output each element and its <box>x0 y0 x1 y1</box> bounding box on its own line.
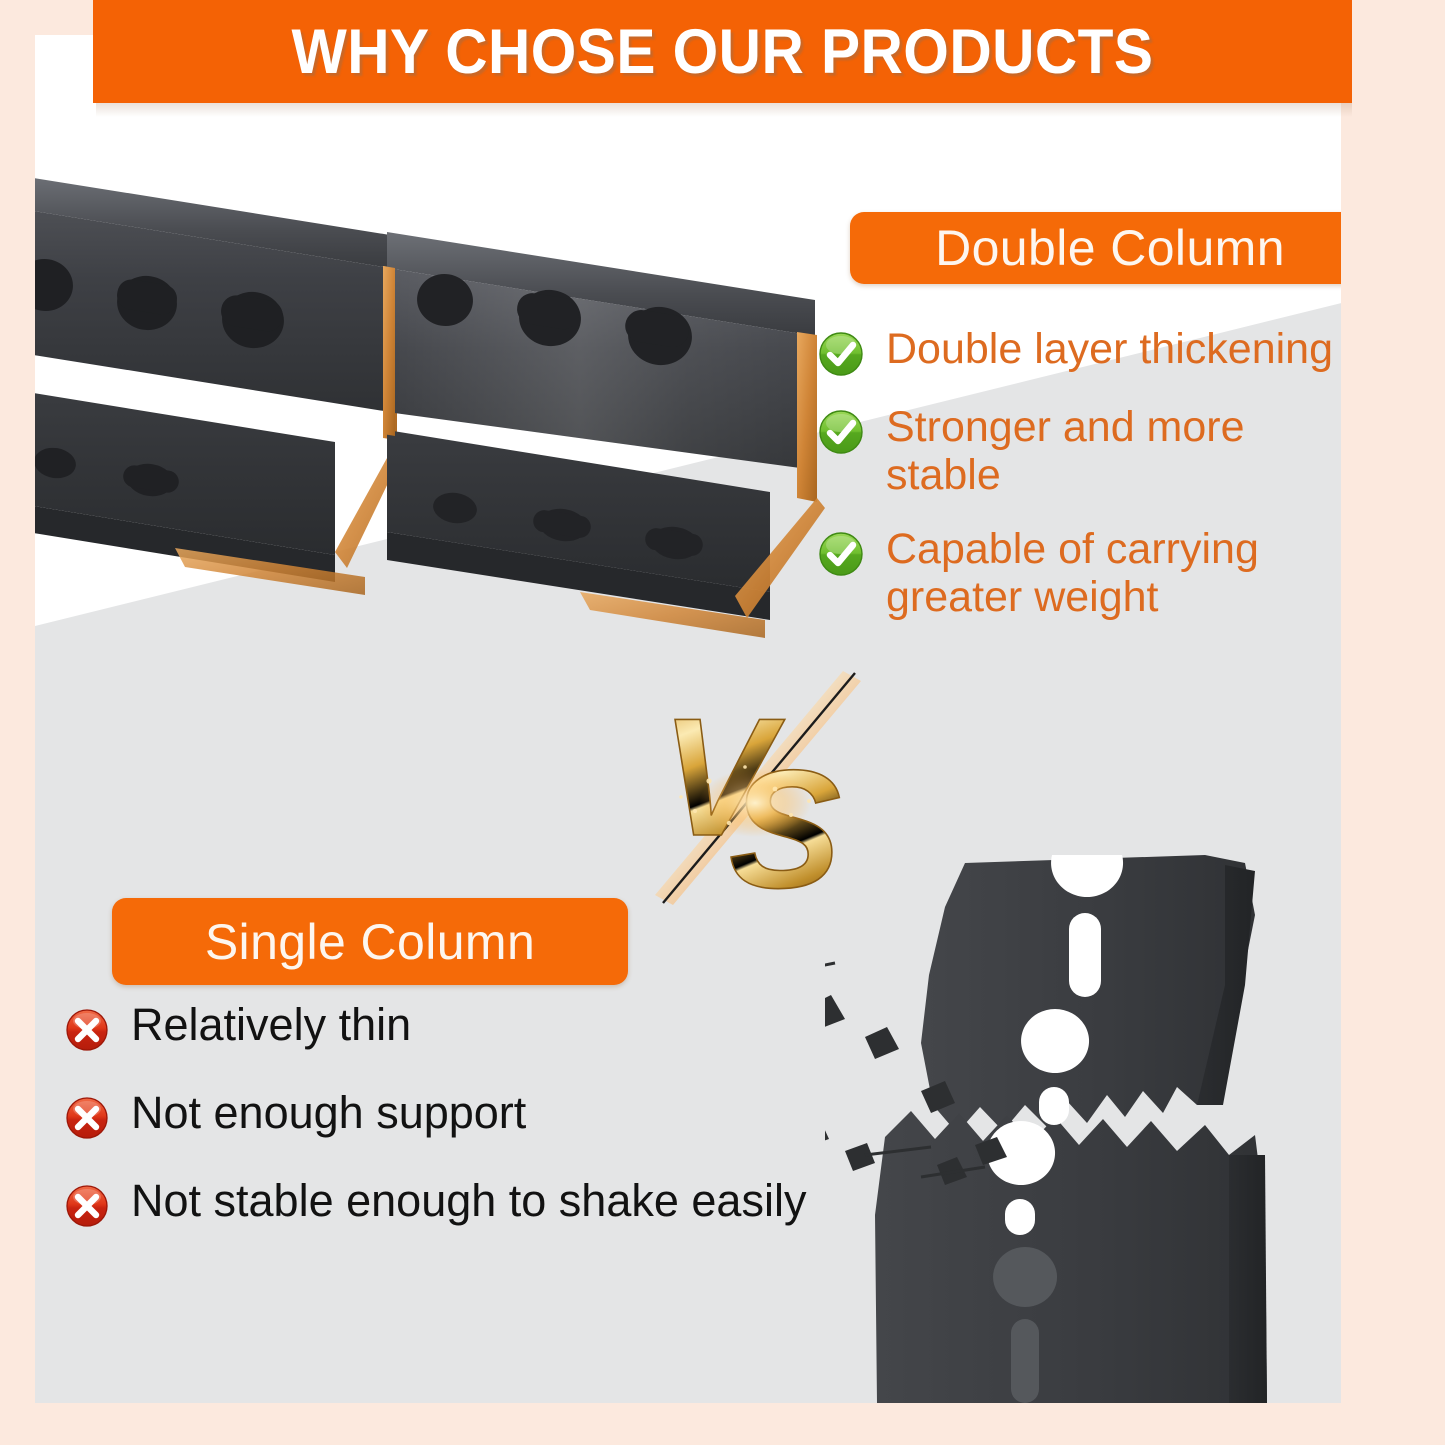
double-column-photo <box>35 140 825 645</box>
pros-item-label: Stronger and more stable <box>886 403 1341 499</box>
list-item: Relatively thin <box>65 1000 855 1052</box>
page-title: WHY CHOSE OUR PRODUCTS <box>291 16 1153 88</box>
single-column-badge: Single Column <box>112 898 628 985</box>
red-cross-icon <box>65 1184 109 1228</box>
green-check-icon <box>818 531 864 577</box>
green-check-icon <box>818 331 864 377</box>
pros-item-label: Double layer thickening <box>886 325 1333 373</box>
header-banner: WHY CHOSE OUR PRODUCTS <box>93 0 1352 103</box>
red-cross-icon <box>65 1096 109 1140</box>
versus-badge: V S <box>633 663 903 913</box>
red-cross-icon <box>65 1008 109 1052</box>
cons-item-label: Relatively thin <box>131 1000 411 1050</box>
cons-list: Relatively thin Not enough support <box>65 1000 855 1264</box>
product-comparison-poster: V S Double Column <box>0 0 1445 1445</box>
list-item: Not stable enough to shake easily <box>65 1176 855 1228</box>
list-item: Double layer thickening <box>818 325 1341 377</box>
list-item: Capable of carrying greater weight <box>818 525 1341 621</box>
pros-item-label: Capable of carrying greater weight <box>886 525 1286 621</box>
double-column-badge: Double Column <box>850 212 1341 284</box>
single-column-badge-label: Single Column <box>205 913 535 971</box>
content-panel: V S Double Column <box>35 35 1341 1403</box>
green-check-icon <box>818 409 864 455</box>
header-banner-shadow <box>96 103 1352 117</box>
pros-list: Double layer thickening Stronger and mor… <box>818 325 1341 648</box>
list-item: Not enough support <box>65 1088 855 1140</box>
cons-item-label: Not enough support <box>131 1088 526 1138</box>
list-item: Stronger and more stable <box>818 403 1341 499</box>
cons-item-label: Not stable enough to shake easily <box>131 1176 806 1226</box>
broken-column-photo <box>825 855 1341 1403</box>
double-column-badge-label: Double Column <box>935 219 1285 277</box>
